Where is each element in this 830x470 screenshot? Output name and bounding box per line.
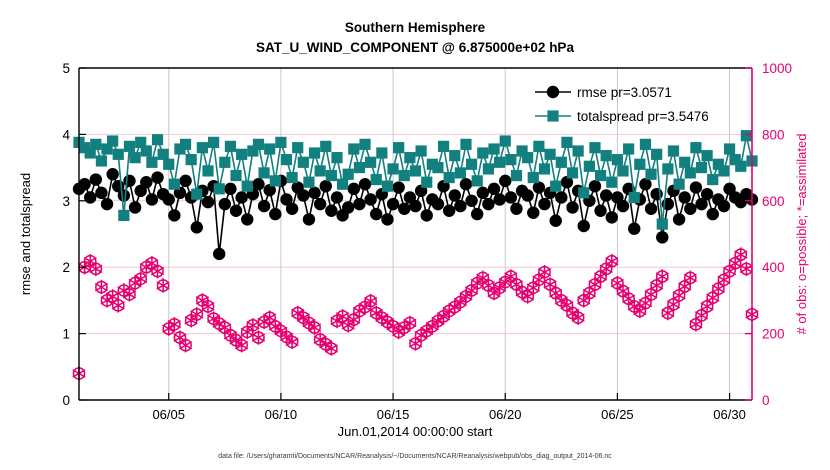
totalspread-marker (107, 135, 118, 146)
totalspread-marker (741, 130, 752, 141)
totalspread-marker (438, 141, 449, 152)
rmse-marker (308, 187, 320, 199)
totalspread-marker (623, 143, 634, 154)
totalspread-marker (113, 149, 124, 160)
totalspread-marker (629, 192, 640, 203)
totalspread-marker (533, 141, 544, 152)
totalspread-marker (690, 142, 701, 153)
totalspread-marker (298, 157, 309, 168)
rmse-marker (617, 200, 629, 212)
totalspread-marker (214, 183, 225, 194)
totalspread-marker (432, 162, 443, 173)
rmse-marker (443, 205, 455, 217)
rmse-marker (370, 208, 382, 220)
totalspread-marker (191, 189, 202, 200)
chart-title-line1: Southern Hemisphere (345, 20, 486, 35)
totalspread-marker (421, 177, 432, 188)
rmse-marker (95, 187, 107, 199)
rmse-marker (493, 193, 505, 205)
rmse-marker (673, 213, 685, 225)
totalspread-marker (707, 174, 718, 185)
totalspread-marker (539, 163, 550, 174)
totalspread-marker (724, 143, 735, 154)
totalspread-marker (718, 165, 729, 176)
totalspread-marker (331, 152, 342, 163)
totalspread-marker (522, 152, 533, 163)
totalspread-marker (550, 181, 561, 192)
rmse-marker (381, 213, 393, 225)
rmse-marker (297, 189, 309, 201)
rmse-marker (241, 213, 253, 225)
totalspread-marker (309, 147, 320, 158)
totalspread-marker (505, 154, 516, 165)
y-tick-label-right: 1000 (762, 61, 792, 76)
totalspread-marker (449, 150, 460, 161)
totalspread-marker (163, 159, 174, 170)
totalspread-marker (202, 165, 213, 176)
rmse-marker (421, 209, 433, 221)
y-axis-right-label: # of obs: o=possible; *=assimilated (794, 134, 809, 335)
rmse-marker (555, 191, 567, 203)
totalspread-marker (657, 218, 668, 229)
rmse-marker (84, 191, 96, 203)
totalspread-marker (258, 167, 269, 178)
chart-figure: Southern Hemisphere SAT_U_WIND_COMPONENT… (0, 0, 830, 470)
totalspread-marker (634, 159, 645, 170)
rmse-marker (235, 191, 247, 203)
totalspread-marker (685, 167, 696, 178)
rmse-marker (707, 208, 719, 220)
rmse-marker (594, 205, 606, 217)
totalspread-marker (124, 141, 135, 152)
totalspread-marker (343, 169, 354, 180)
rmse-marker (325, 205, 337, 217)
totalspread-marker (556, 157, 567, 168)
totalspread-marker (460, 139, 471, 150)
totalspread-marker (393, 142, 404, 153)
totalspread-marker (219, 157, 230, 168)
rmse-marker (78, 178, 90, 190)
totalspread-marker (253, 139, 264, 150)
totalspread-marker (651, 149, 662, 160)
totalspread-marker (466, 159, 477, 170)
rmse-marker (230, 205, 242, 217)
x-tick-label: 06/05 (152, 407, 185, 422)
x-tick-label: 06/10 (265, 407, 298, 422)
totalspread-marker (606, 177, 617, 188)
rmse-marker (252, 178, 264, 190)
rmse-marker (258, 200, 270, 212)
totalspread-marker (410, 165, 421, 176)
rmse-marker (202, 196, 214, 208)
rmse-marker (499, 175, 511, 187)
totalspread-marker (584, 161, 595, 172)
totalspread-marker (679, 157, 690, 168)
rmse-marker (684, 203, 696, 215)
rmse-marker (679, 191, 691, 203)
totalspread-marker (702, 150, 713, 161)
legend-label: rmse pr=3.0571 (577, 85, 672, 100)
chart-title-line2: SAT_U_WIND_COMPONENT @ 6.875000e+02 hPa (256, 40, 574, 55)
totalspread-marker (595, 170, 606, 181)
totalspread-marker (129, 152, 140, 163)
rmse-marker (628, 222, 640, 234)
rmse-marker (303, 213, 315, 225)
totalspread-marker (146, 157, 157, 168)
totalspread-marker (152, 134, 163, 145)
totalspread-marker (483, 163, 494, 174)
rmse-marker (639, 178, 651, 190)
totalspread-marker (371, 174, 382, 185)
totalspread-marker (416, 145, 427, 156)
data-file-footer: data file: /Users/gharamti/Documents/NCA… (218, 453, 612, 460)
totalspread-marker (528, 172, 539, 183)
totalspread-marker (645, 169, 656, 180)
totalspread-marker (365, 157, 376, 168)
legend-label: totalspread pr=3.5476 (577, 109, 709, 124)
totalspread-marker (158, 149, 169, 160)
rmse-marker (387, 198, 399, 210)
rmse-marker (286, 203, 298, 215)
totalspread-marker (488, 143, 499, 154)
totalspread-marker (589, 142, 600, 153)
rmse-marker (656, 231, 668, 243)
rmse-marker (219, 198, 231, 210)
rmse-marker (269, 208, 281, 220)
totalspread-marker (561, 137, 572, 148)
rmse-marker (146, 193, 158, 205)
totalspread-marker (673, 179, 684, 190)
rmse-marker (151, 171, 163, 183)
totalspread-marker (472, 175, 483, 186)
rmse-marker (527, 207, 539, 219)
rmse-marker (320, 180, 332, 192)
totalspread-marker (169, 179, 180, 190)
totalspread-marker (444, 172, 455, 183)
rmse-marker (538, 198, 550, 210)
y-tick-label-left: 4 (62, 127, 70, 142)
totalspread-marker (612, 154, 623, 165)
rmse-marker (477, 187, 489, 199)
totalspread-marker (337, 179, 348, 190)
rmse-marker (449, 189, 461, 201)
y-tick-label-right: 0 (762, 393, 770, 408)
totalspread-marker (90, 139, 101, 150)
rmse-marker (566, 201, 578, 213)
rmse-marker (179, 175, 191, 187)
totalspread-marker (500, 135, 511, 146)
totalspread-marker (387, 163, 398, 174)
totalspread-marker (404, 152, 415, 163)
rmse-marker (224, 183, 236, 195)
rmse-marker (314, 198, 326, 210)
rmse-marker (600, 189, 612, 201)
totalspread-marker (735, 161, 746, 172)
y-tick-label-left: 0 (62, 393, 70, 408)
rmse-marker (465, 195, 477, 207)
rmse-marker (645, 203, 657, 215)
rmse-marker (213, 248, 225, 260)
x-tick-label: 06/30 (713, 407, 746, 422)
totalspread-marker (494, 157, 505, 168)
x-axis-caption: Jun.01,2014 00:00:00 start (338, 424, 493, 439)
rmse-marker (718, 200, 730, 212)
rmse-marker (168, 209, 180, 221)
rmse-marker (701, 188, 713, 200)
totalspread-marker (208, 137, 219, 148)
rmse-marker (348, 183, 360, 195)
rmse-marker (471, 208, 483, 220)
rmse-marker (191, 221, 203, 233)
rmse-marker (550, 215, 562, 227)
totalspread-marker (662, 163, 673, 174)
totalspread-marker (287, 172, 298, 183)
totalspread-marker (617, 165, 628, 176)
rmse-marker (342, 201, 354, 213)
rmse-marker (359, 178, 371, 190)
rmse-marker (460, 178, 472, 190)
y-tick-label-left: 3 (62, 194, 70, 209)
rmse-marker (521, 189, 533, 201)
totalspread-marker (359, 139, 370, 150)
rmse-marker (578, 220, 590, 232)
rmse-marker (510, 203, 522, 215)
totalspread-marker (578, 187, 589, 198)
totalspread-marker (275, 137, 286, 148)
y-tick-label-right: 200 (762, 327, 785, 342)
rmse-marker (163, 193, 175, 205)
totalspread-marker (640, 139, 651, 150)
totalspread-marker (197, 142, 208, 153)
rmse-marker (482, 198, 494, 210)
rmse-marker (392, 181, 404, 193)
y-tick-label-right: 400 (762, 260, 785, 275)
totalspread-marker (186, 154, 197, 165)
totalspread-marker (348, 143, 359, 154)
totalspread-marker (477, 147, 488, 158)
totalspread-marker (264, 143, 275, 154)
totalspread-marker (326, 170, 337, 181)
x-tick-label: 06/15 (377, 407, 410, 422)
rmse-marker (129, 201, 141, 213)
totalspread-marker (455, 167, 466, 178)
y-tick-label-right: 800 (762, 127, 785, 142)
totalspread-marker (118, 210, 129, 221)
legend-marker-totalspread (547, 110, 558, 121)
rmse-marker (106, 168, 118, 180)
totalspread-marker (270, 175, 281, 186)
y-tick-label-left: 1 (62, 327, 70, 342)
totalspread-marker (696, 162, 707, 173)
rmse-marker (606, 211, 618, 223)
x-tick-label: 06/25 (601, 407, 634, 422)
totalspread-marker (399, 170, 410, 181)
y-axis-left-label: rmse and totalspread (18, 173, 33, 295)
totalspread-marker (180, 139, 191, 150)
totalspread-marker (141, 145, 152, 156)
totalspread-marker (96, 155, 107, 166)
rmse-marker (101, 198, 113, 210)
x-tick-label: 06/20 (489, 407, 522, 422)
rmse-marker (140, 176, 152, 188)
rmse-marker (488, 183, 500, 195)
totalspread-marker (567, 167, 578, 178)
rmse-marker (409, 200, 421, 212)
y-tick-label-left: 2 (62, 260, 70, 275)
legend-marker-rmse (547, 86, 559, 98)
totalspread-marker (376, 147, 387, 158)
totalspread-marker (236, 149, 247, 160)
totalspread-marker (601, 150, 612, 161)
totalspread-marker (303, 177, 314, 188)
rmse-marker (331, 191, 343, 203)
totalspread-marker (242, 181, 253, 192)
totalspread-marker (225, 141, 236, 152)
totalspread-marker (315, 165, 326, 176)
totalspread-marker (545, 149, 556, 160)
totalspread-marker (320, 141, 331, 152)
rmse-marker (454, 200, 466, 212)
rmse-marker (90, 173, 102, 185)
rmse-marker (505, 191, 517, 203)
rmse-marker (123, 175, 135, 187)
rmse-marker (690, 181, 702, 193)
rmse-marker (533, 181, 545, 193)
totalspread-marker (573, 145, 584, 156)
totalspread-marker (668, 145, 679, 156)
totalspread-marker (354, 162, 365, 173)
rmse-marker (589, 180, 601, 192)
rmse-marker (398, 203, 410, 215)
rmse-marker (353, 198, 365, 210)
totalspread-marker (382, 181, 393, 192)
totalspread-marker (230, 170, 241, 181)
totalspread-marker (511, 170, 522, 181)
rmse-marker (118, 189, 130, 201)
totalspread-marker (281, 154, 292, 165)
y-tick-label-right: 600 (762, 194, 785, 209)
totalspread-marker (292, 142, 303, 153)
y-tick-label-left: 5 (62, 61, 70, 76)
rmse-marker (364, 193, 376, 205)
rmse-marker (432, 198, 444, 210)
